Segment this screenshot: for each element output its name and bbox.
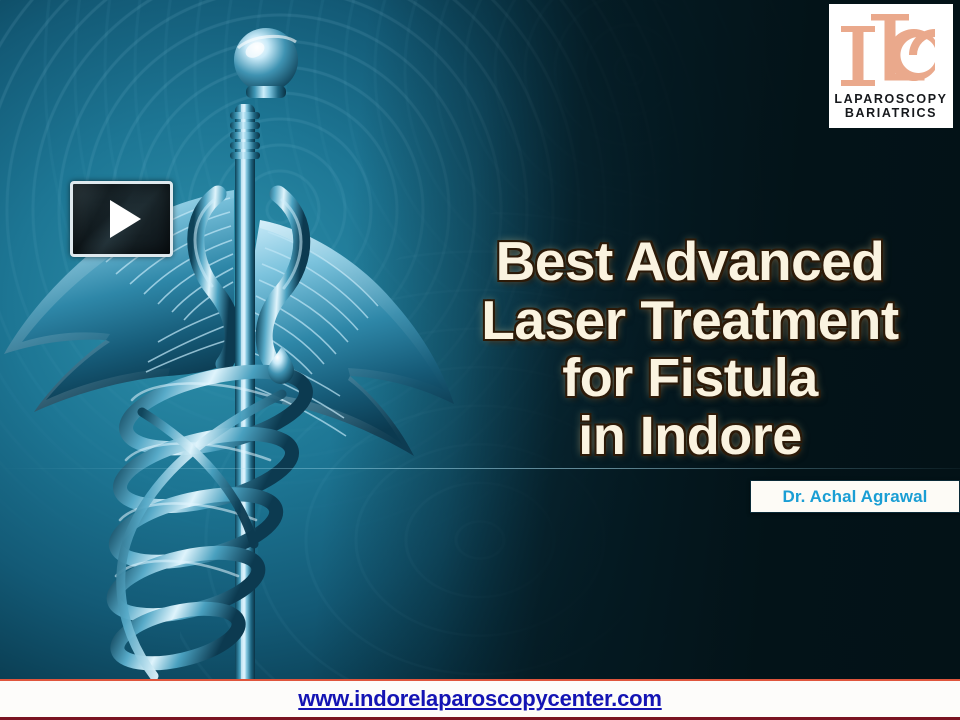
clinic-logo: LAPAROSCOPY BARIATRICS xyxy=(829,4,953,128)
logo-line-bariatrics: BARIATRICS xyxy=(834,106,947,120)
play-icon xyxy=(110,200,141,238)
ilc-monogram-icon xyxy=(831,8,951,94)
slide-title: Best Advanced Laser Treatment for Fistul… xyxy=(420,233,960,467)
slide-canvas: Best Advanced Laser Treatment for Fistul… xyxy=(0,0,960,720)
doctor-name-label: Dr. Achal Agrawal xyxy=(783,487,928,507)
website-url-link[interactable]: www.indorelaparoscopycenter.com xyxy=(298,686,661,712)
title-line-1: Best Advanced xyxy=(420,233,960,289)
title-line-2: Laser Treatment xyxy=(420,292,960,348)
logo-line-laparoscopy: LAPAROSCOPY xyxy=(834,92,947,106)
title-line-4: in Indore xyxy=(420,409,960,464)
footer-bar: www.indorelaparoscopycenter.com xyxy=(0,679,960,720)
doctor-name-box: Dr. Achal Agrawal xyxy=(750,480,960,513)
video-play-button[interactable] xyxy=(70,181,173,257)
title-line-3: for Fistula xyxy=(420,351,960,406)
